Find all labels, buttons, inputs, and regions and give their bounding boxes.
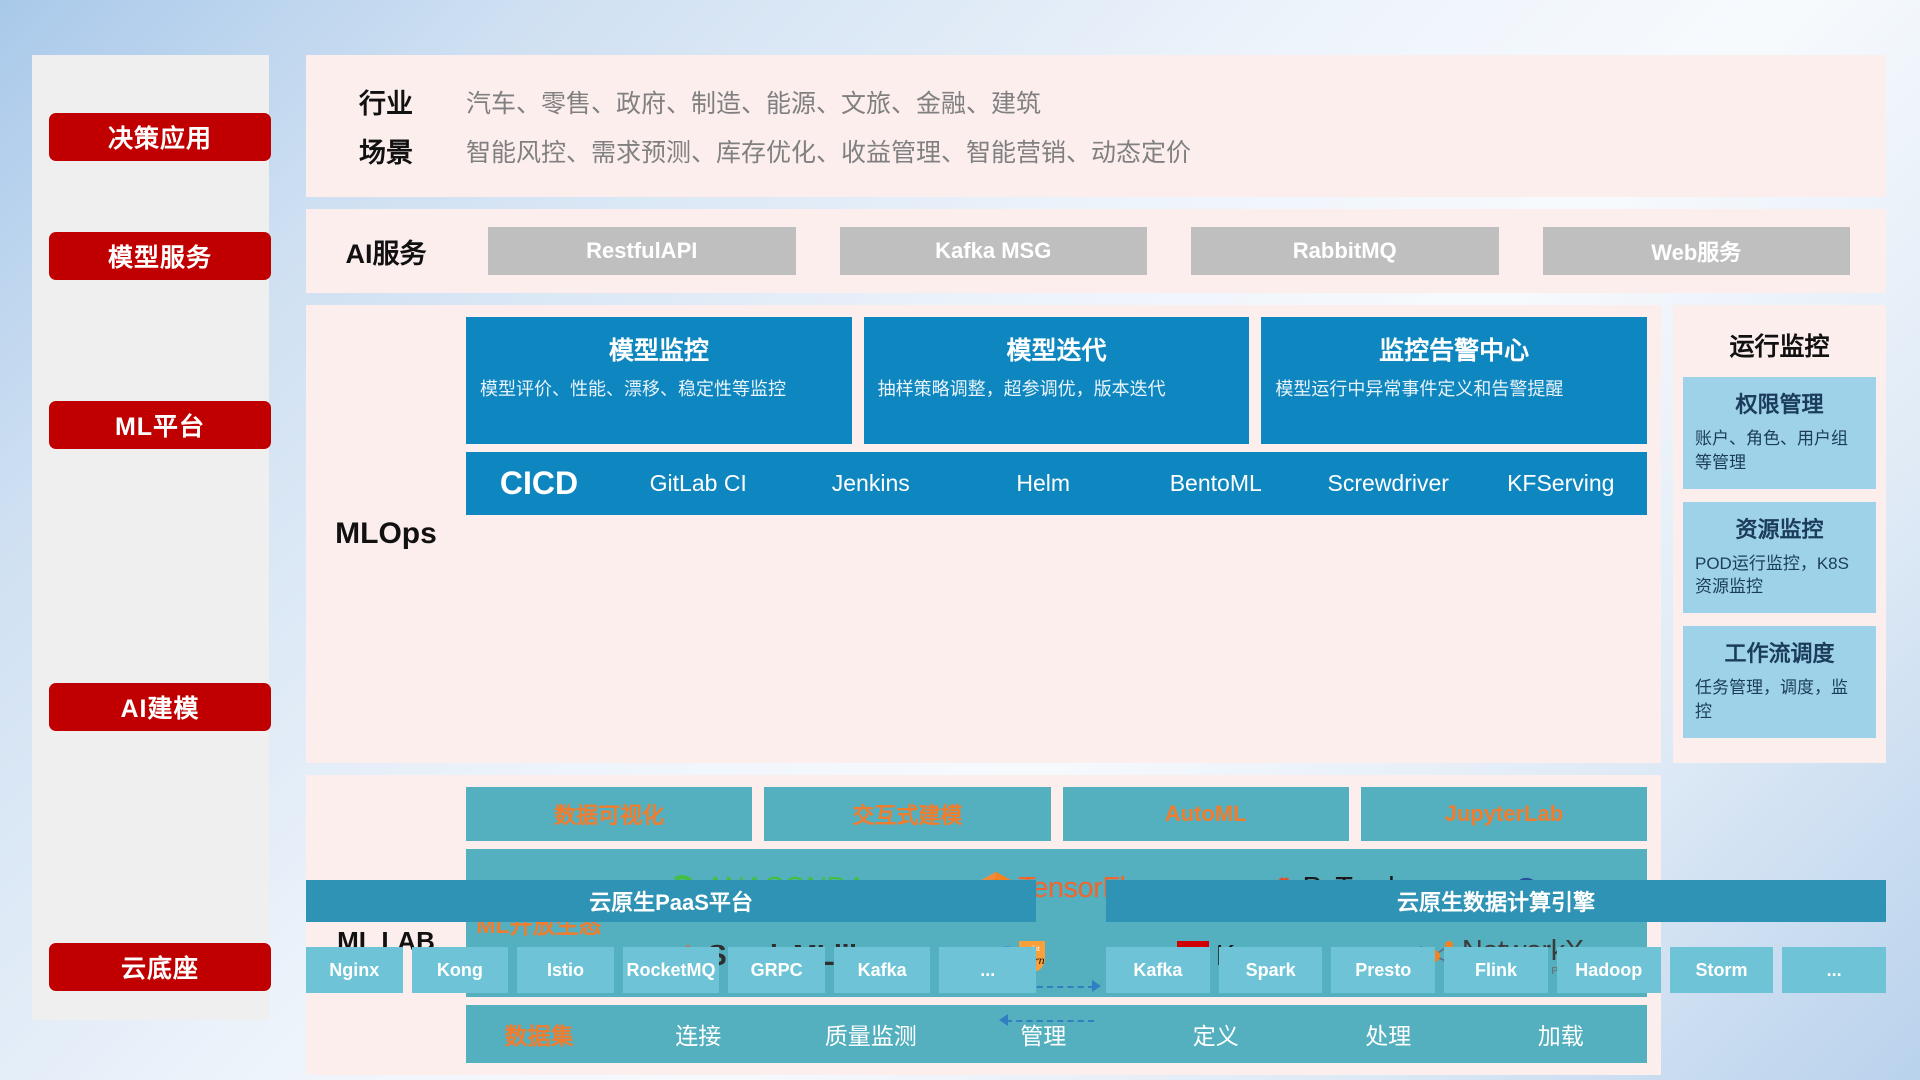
runtime-monitor-column: 运行监控 权限管理 账户、角色、用户组等管理 资源监控 POD运行监控，K8S资…	[1673, 305, 1886, 763]
service-chip-kafka-msg[interactable]: Kafka MSG	[840, 227, 1148, 275]
rail-item-model-service[interactable]: 模型服务	[49, 232, 271, 280]
card-desc: 任务管理，调度，监控	[1695, 676, 1864, 724]
card-desc: 账户、角色、用户组等管理	[1695, 427, 1864, 475]
rail-item-label: 模型服务	[108, 238, 212, 274]
lab-tool-jupyterlab[interactable]: JupyterLab	[1361, 787, 1647, 841]
data-engine-title: 云原生数据计算引擎	[1106, 880, 1886, 922]
card-desc: 抽样策略调整，超参调优，版本迭代	[878, 377, 1236, 403]
engine-chip-spark[interactable]: Spark	[1219, 947, 1323, 993]
service-chip-restfulapi[interactable]: RestfulAPI	[488, 227, 796, 275]
paas-title: 云原生PaaS平台	[306, 880, 1036, 922]
ai-service-label: AI服务	[306, 232, 466, 271]
card-title: 模型监控	[480, 331, 838, 367]
cicd-item-screwdriver[interactable]: Screwdriver	[1302, 471, 1475, 495]
rail-item-cloud-base[interactable]: 云底座	[49, 943, 271, 991]
cicd-item-jenkins[interactable]: Jenkins	[785, 471, 958, 495]
rail-item-label: 云底座	[121, 949, 199, 985]
engine-chip-hadoop[interactable]: Hadoop	[1557, 947, 1661, 993]
link-line-left	[1006, 1020, 1094, 1022]
mlops-card-list: 模型监控 模型评价、性能、漂移、稳定性等监控 模型迭代 抽样策略调整，超参调优，…	[466, 317, 1647, 444]
decision-apps-band: 行业 汽车、零售、政府、制造、能源、文旅、金融、建筑 场景 智能风控、需求预测、…	[306, 55, 1886, 197]
paas-chip-kong[interactable]: Kong	[412, 947, 509, 993]
runtime-monitor-title: 运行监控	[1683, 317, 1876, 377]
monitor-card-resource[interactable]: 资源监控 POD运行监控，K8S资源监控	[1683, 502, 1876, 614]
service-chip-rabbitmq[interactable]: RabbitMQ	[1191, 227, 1499, 275]
card-desc: POD运行监控，K8S资源监控	[1695, 552, 1864, 600]
cloud-base-section: 云原生PaaS平台 Nginx Kong Istio RocketMQ GRPC…	[306, 880, 1886, 1050]
paas-chip-more[interactable]: ...	[939, 947, 1036, 993]
lab-tool-interactive-modeling[interactable]: 交互式建模	[764, 787, 1050, 841]
monitor-card-workflow[interactable]: 工作流调度 任务管理，调度，监控	[1683, 626, 1876, 738]
mlops-card-model-monitoring[interactable]: 模型监控 模型评价、性能、漂移、稳定性等监控	[466, 317, 852, 444]
rail-item-label: ML平台	[115, 407, 205, 443]
paas-chip-nginx[interactable]: Nginx	[306, 947, 403, 993]
cicd-bar: CICD GitLab CI Jenkins Helm BentoML Scre…	[466, 452, 1647, 515]
rail-item-ai-modeling[interactable]: AI建模	[49, 683, 271, 731]
rail-item-ml-platform[interactable]: ML平台	[49, 401, 271, 449]
data-engine-group: 云原生数据计算引擎 Kafka Spark Presto Flink Hadoo…	[1106, 880, 1886, 993]
mlops-and-monitor-row: MLOps 模型监控 模型评价、性能、漂移、稳定性等监控 模型迭代 抽样策略调整…	[306, 305, 1886, 763]
cicd-item-kfserving[interactable]: KFServing	[1475, 471, 1648, 495]
link-arrow-right-icon	[1092, 980, 1101, 992]
engine-chip-kafka[interactable]: Kafka	[1106, 947, 1210, 993]
engine-chip-more[interactable]: ...	[1782, 947, 1886, 993]
paas-chip-grpc[interactable]: GRPC	[728, 947, 825, 993]
card-desc: 模型运行中异常事件定义和告警提醒	[1275, 377, 1633, 403]
scenario-values: 智能风控、需求预测、库存优化、收益管理、智能营销、动态定价	[466, 133, 1191, 169]
engine-chip-presto[interactable]: Presto	[1331, 947, 1435, 993]
card-title: 工作流调度	[1695, 636, 1864, 668]
ml-lab-tool-list: 数据可视化 交互式建模 AutoML JupyterLab	[466, 787, 1647, 841]
cicd-item-gitlab-ci[interactable]: GitLab CI	[612, 471, 785, 495]
service-chip-web-service[interactable]: Web服务	[1543, 227, 1851, 275]
industry-row: 行业 汽车、零售、政府、制造、能源、文旅、金融、建筑	[306, 77, 1886, 126]
engine-chip-storm[interactable]: Storm	[1670, 947, 1774, 993]
cicd-title: CICD	[466, 465, 612, 502]
lab-tool-data-visualization[interactable]: 数据可视化	[466, 787, 752, 841]
paas-chip-rocketmq[interactable]: RocketMQ	[623, 947, 720, 993]
left-rail	[32, 55, 269, 1020]
data-engine-chip-list: Kafka Spark Presto Flink Hadoop Storm ..…	[1106, 947, 1886, 993]
card-title: 权限管理	[1695, 387, 1864, 419]
card-title: 模型迭代	[878, 331, 1236, 367]
cicd-item-list: GitLab CI Jenkins Helm BentoML Screwdriv…	[612, 471, 1647, 495]
card-title: 监控告警中心	[1275, 331, 1633, 367]
lab-tool-automl[interactable]: AutoML	[1063, 787, 1349, 841]
cicd-item-bentoml[interactable]: BentoML	[1130, 471, 1303, 495]
paas-chip-list: Nginx Kong Istio RocketMQ GRPC Kafka ...	[306, 947, 1036, 993]
rail-item-label: 决策应用	[108, 119, 212, 155]
paas-group: 云原生PaaS平台 Nginx Kong Istio RocketMQ GRPC…	[306, 880, 1036, 993]
engine-chip-flink[interactable]: Flink	[1444, 947, 1548, 993]
rail-item-decision-apps[interactable]: 决策应用	[49, 113, 271, 161]
scenario-label: 场景	[306, 131, 466, 170]
industry-label: 行业	[306, 82, 466, 121]
paas-chip-kafka[interactable]: Kafka	[834, 947, 931, 993]
scenario-row: 场景 智能风控、需求预测、库存优化、收益管理、智能营销、动态定价	[306, 126, 1886, 175]
mlops-band: MLOps 模型监控 模型评价、性能、漂移、稳定性等监控 模型迭代 抽样策略调整…	[306, 305, 1661, 763]
card-title: 资源监控	[1695, 512, 1864, 544]
mlops-label: MLOps	[306, 317, 466, 751]
monitor-card-permission[interactable]: 权限管理 账户、角色、用户组等管理	[1683, 377, 1876, 489]
industry-values: 汽车、零售、政府、制造、能源、文旅、金融、建筑	[466, 84, 1041, 120]
card-desc: 模型评价、性能、漂移、稳定性等监控	[480, 377, 838, 403]
mlops-content: 模型监控 模型评价、性能、漂移、稳定性等监控 模型迭代 抽样策略调整，超参调优，…	[466, 317, 1647, 751]
mlops-card-model-iteration[interactable]: 模型迭代 抽样策略调整，超参调优，版本迭代	[864, 317, 1250, 444]
ai-service-list: RestfulAPI Kafka MSG RabbitMQ Web服务	[466, 227, 1886, 275]
cicd-item-helm[interactable]: Helm	[957, 471, 1130, 495]
paas-chip-istio[interactable]: Istio	[517, 947, 614, 993]
link-arrow-left-icon	[999, 1014, 1008, 1026]
mlops-card-alert-center[interactable]: 监控告警中心 模型运行中异常事件定义和告警提醒	[1261, 317, 1647, 444]
rail-item-label: AI建模	[120, 689, 199, 725]
ai-service-band: AI服务 RestfulAPI Kafka MSG RabbitMQ Web服务	[306, 209, 1886, 293]
